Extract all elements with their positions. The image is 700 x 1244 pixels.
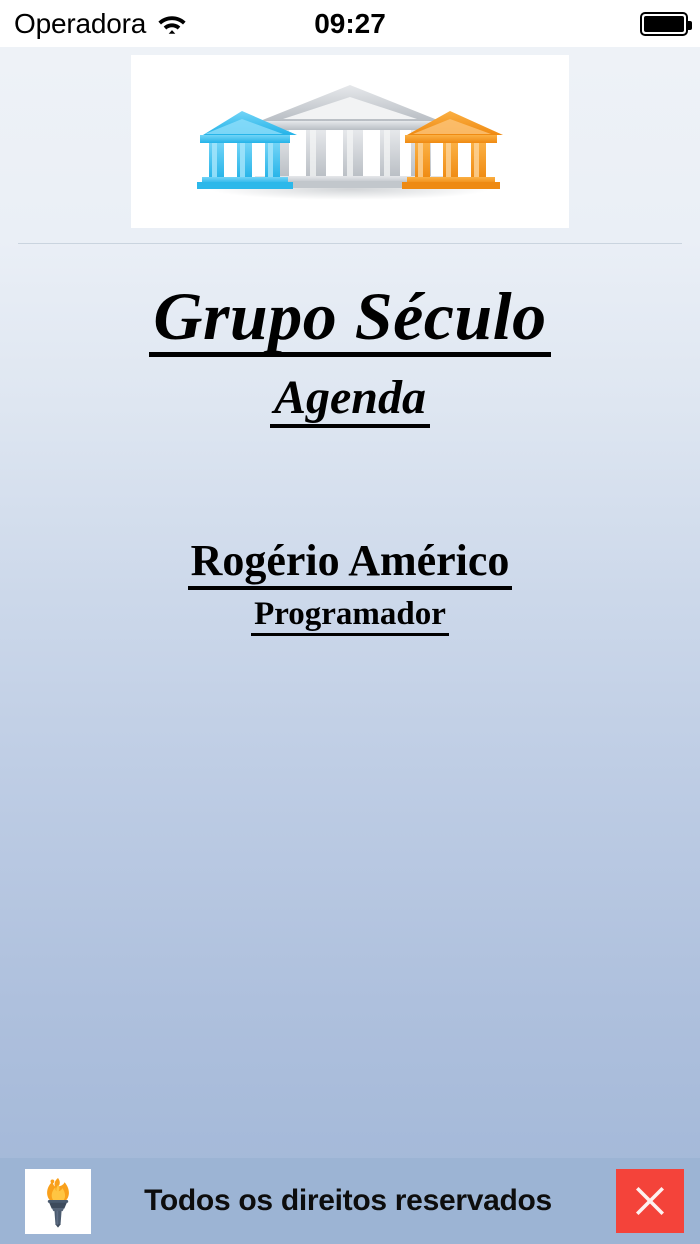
header-divider bbox=[18, 243, 682, 244]
app-screen: Operadora 09:27 bbox=[0, 0, 700, 1244]
status-bar: Operadora 09:27 bbox=[0, 0, 700, 47]
splash-content: Grupo Século Agenda Rogério Américo Prog… bbox=[0, 47, 700, 1244]
close-icon bbox=[631, 1182, 669, 1220]
status-bar-right bbox=[640, 0, 688, 47]
author-name-row: Rogério Américo bbox=[0, 539, 700, 590]
page-subtitle: Agenda bbox=[270, 374, 430, 428]
author-name: Rogério Américo bbox=[188, 539, 513, 590]
page-title: Grupo Século bbox=[149, 282, 550, 357]
battery-full-icon bbox=[640, 12, 688, 36]
author-role: Programador bbox=[251, 598, 449, 636]
close-button[interactable] bbox=[616, 1169, 684, 1233]
classical-bank-buildings-logo bbox=[185, 77, 515, 207]
author-role-row: Programador bbox=[0, 598, 700, 636]
page-title-row: Grupo Século bbox=[0, 282, 700, 357]
copyright-label: Todos os direitos reservados bbox=[0, 1158, 700, 1244]
page-subtitle-row: Agenda bbox=[0, 374, 700, 428]
footer-bar: Todos os direitos reservados bbox=[0, 1158, 700, 1244]
logo-card bbox=[131, 55, 569, 228]
status-bar-clock: 09:27 bbox=[0, 0, 700, 47]
